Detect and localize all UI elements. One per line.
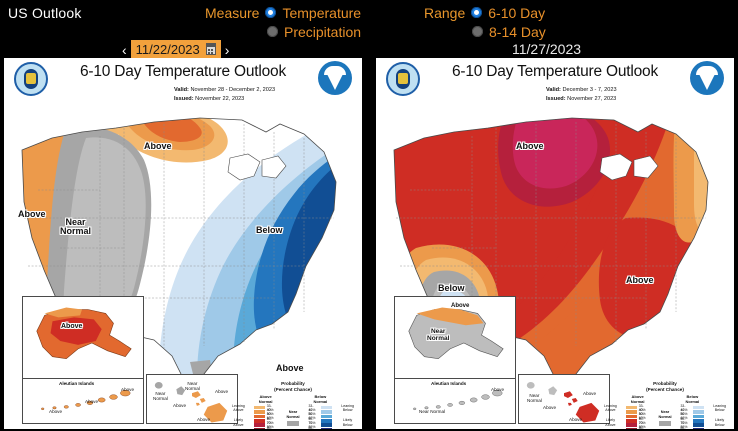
leaning-below-label-right: LeaningBelow bbox=[713, 404, 726, 413]
prob-legend-left-side-labels-right: LeaningAbove LikelyAbove bbox=[604, 394, 617, 429]
outlook-panels: 6-10 Day Temperature Outlook Valid: Nove… bbox=[0, 58, 738, 431]
radio-8-14-day[interactable] bbox=[472, 26, 483, 37]
aleutian-title-right: Aleutian Islands bbox=[431, 381, 466, 386]
aleutian-label-2-left: Above bbox=[85, 399, 98, 404]
hawaii-label-3-right: Above bbox=[583, 391, 596, 396]
prob-legend-above-column-left: Above Normal 33-40% 40-50% 50-60% 60-70%… bbox=[254, 394, 278, 429]
panel-right-valid-label: Valid: bbox=[546, 87, 561, 93]
prob-legend-above-column-right: Above Normal 33-40% 40-50% 50-60% 60-70%… bbox=[626, 394, 650, 429]
panel-left-valid-value: November 28 - December 2, 2023 bbox=[190, 87, 275, 93]
measure-option-temperature-label: Temperature bbox=[282, 5, 361, 21]
aleutian-label-2-right: Above bbox=[491, 387, 504, 392]
radio-temperature[interactable] bbox=[265, 7, 276, 18]
control-bar: US Outlook Measure Temperature Precipita… bbox=[0, 0, 738, 62]
measure-control-group: Measure Temperature Precipitation bbox=[205, 3, 361, 41]
prob-legend-right-side-labels-left: LeaningBelow LikelyBelow bbox=[341, 394, 354, 429]
next-date-button[interactable]: › bbox=[221, 43, 234, 57]
prob-legend-left-side-labels-left: LeaningAbove LikelyAbove bbox=[232, 394, 245, 429]
aleutian-label-3-left: Above bbox=[49, 409, 62, 414]
likely-above-label-left: LikelyAbove bbox=[232, 418, 245, 427]
measure-option-precipitation[interactable]: Precipitation bbox=[205, 22, 361, 41]
hawaii-label-3-left: Above bbox=[173, 403, 186, 408]
prob-legend-below-column-left: Below Normal 33-40% 40-50% 50-60% 60-70%… bbox=[309, 394, 333, 429]
leaning-below-label-left: LeaningBelow bbox=[341, 404, 354, 413]
map-right[interactable]: Above Below NearNormal Above Above NearN… bbox=[376, 98, 734, 429]
legend-row-below-5: 80-90% bbox=[309, 427, 333, 429]
likely-below-label-left: LikelyBelow bbox=[341, 418, 354, 427]
range-option-6-10-day[interactable]: Range 6-10 Day bbox=[424, 3, 546, 22]
map-left-aleutian-inset[interactable]: Aleutian Islands Above Above Above bbox=[22, 378, 144, 424]
outlook-panel-right: 6-10 Day Temperature Outlook Valid: Dece… bbox=[376, 58, 734, 429]
hawaii-label-4-right: Above bbox=[569, 417, 582, 422]
range-option-8-14-day-label: 8-14 Day bbox=[489, 24, 546, 40]
radio-precipitation[interactable] bbox=[267, 26, 278, 37]
hawaii-label-5-left: Above bbox=[197, 417, 210, 422]
leaning-above-label-right: LeaningAbove bbox=[604, 404, 617, 413]
hawaii-label-4-left: Above bbox=[215, 389, 228, 394]
panel-left-valid-label: Valid: bbox=[174, 87, 189, 93]
panel-right-valid-value: December 3 - 7, 2023 bbox=[562, 87, 616, 93]
measure-option-precipitation-label: Precipitation bbox=[284, 24, 361, 40]
range-option-8-14-day[interactable]: 8-14 Day bbox=[424, 22, 546, 41]
panel-left-title: 6-10 Day Temperature Outlook bbox=[4, 63, 362, 81]
legend-row-above-r5: 80-90% bbox=[626, 427, 650, 429]
prob-legend-below-column-right: Below Normal 33-40% 40-50% 50-60% 60-70%… bbox=[681, 394, 705, 429]
date-input[interactable]: 11/22/2023 bbox=[131, 40, 221, 59]
legend-row-above-5: 80-90% bbox=[254, 427, 278, 429]
prob-legend-right-side-labels-right: LeaningBelow LikelyBelow bbox=[713, 394, 726, 429]
calendar-icon[interactable] bbox=[206, 43, 216, 55]
likely-below-label-right: LikelyBelow bbox=[713, 418, 726, 427]
aleutian-title-left: Aleutian Islands bbox=[59, 381, 94, 386]
us-outlook-app: US Outlook Measure Temperature Precipita… bbox=[0, 0, 738, 431]
prob-legend-title-2-right: (Percent Chance) bbox=[604, 387, 726, 393]
hawaii-label-2-right: Above bbox=[543, 405, 556, 410]
range-control-group: Range 6-10 Day 8-14 Day bbox=[424, 3, 546, 41]
probability-legend-right: Probability (Percent Chance) LeaningAbov… bbox=[604, 381, 726, 426]
secondary-date-label: 11/27/2023 bbox=[512, 41, 581, 57]
measure-legend: Measure bbox=[205, 5, 259, 21]
page-title: US Outlook bbox=[8, 5, 82, 21]
probability-legend-left: Probability (Percent Chance) LeaningAbov… bbox=[232, 381, 354, 426]
measure-option-temperature[interactable]: Measure Temperature bbox=[205, 3, 361, 22]
near-normal-legend-right: NearNormal bbox=[658, 394, 671, 429]
near-normal-legend-left: NearNormal bbox=[286, 394, 299, 429]
leaning-above-label-left: LeaningAbove bbox=[232, 404, 245, 413]
date-input-value: 11/22/2023 bbox=[136, 43, 200, 56]
likely-above-label-right: LikelyAbove bbox=[604, 418, 617, 427]
aleutian-label-1-left: Above bbox=[121, 387, 134, 392]
prev-date-button[interactable]: ‹ bbox=[118, 43, 131, 57]
outlook-panel-left: 6-10 Day Temperature Outlook Valid: Nove… bbox=[4, 58, 362, 429]
prob-legend-title-2-left: (Percent Chance) bbox=[232, 387, 354, 393]
hawaii-label-2-left: NearNormal bbox=[185, 381, 200, 391]
map-right-aleutian-inset[interactable]: Aleutian Islands Near Normal Above bbox=[394, 378, 516, 424]
legend-row-below-r5: 80-90% bbox=[681, 427, 705, 429]
panel-right-title: 6-10 Day Temperature Outlook bbox=[376, 63, 734, 81]
alaska-graphic bbox=[23, 297, 143, 381]
map-right-hawaii-inset[interactable]: NearNormal Above Above Above bbox=[518, 374, 610, 424]
range-legend: Range bbox=[424, 5, 465, 21]
alaska-graphic-right bbox=[395, 297, 515, 381]
hawaii-label-1-left: NearNormal bbox=[153, 391, 168, 401]
hawaii-label-1-right: NearNormal bbox=[527, 393, 542, 403]
map-left-hawaii-inset[interactable]: NearNormal NearNormal Above Above Above bbox=[146, 374, 238, 424]
map-left[interactable]: Above Above NearNormal Below Above Above bbox=[4, 98, 362, 429]
range-option-6-10-day-label: 6-10 Day bbox=[488, 5, 545, 21]
aleutian-label-1-right: Near Normal bbox=[419, 409, 445, 414]
date-stepper: ‹ 11/22/2023 › bbox=[118, 40, 233, 59]
radio-6-10-day[interactable] bbox=[471, 7, 482, 18]
